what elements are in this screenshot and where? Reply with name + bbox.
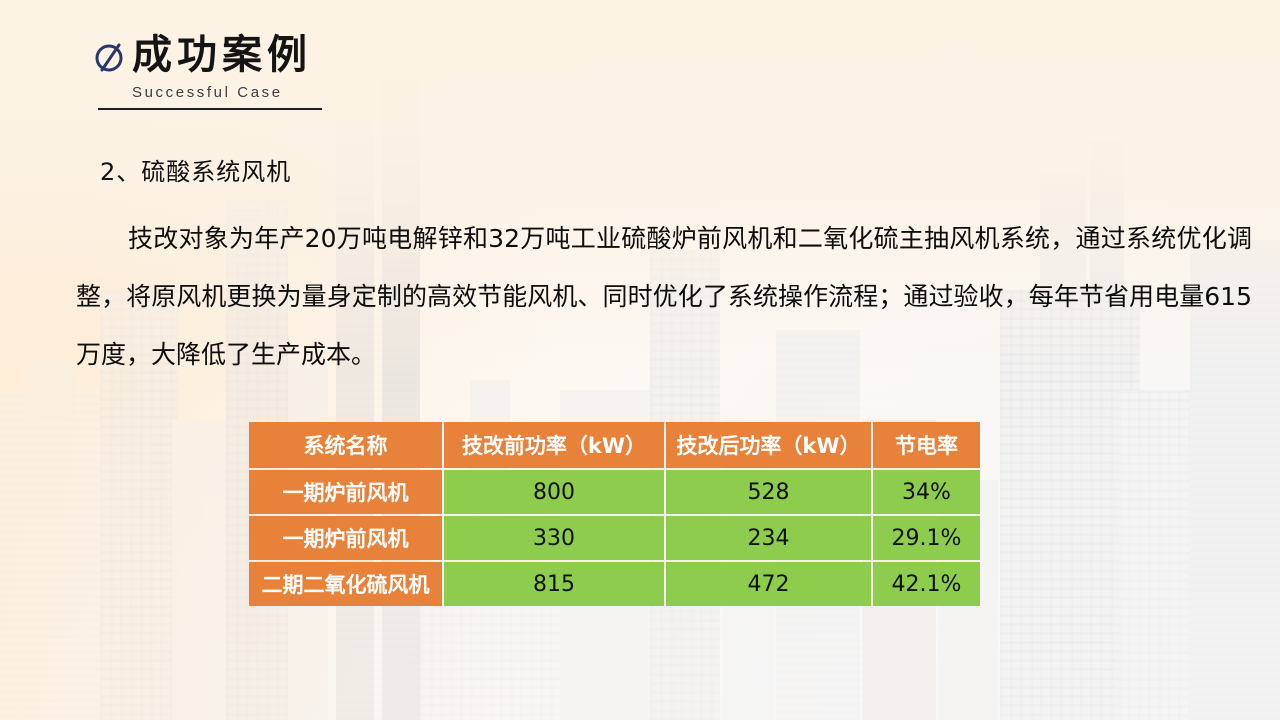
column-header-power-before: 技改前功率（kW） [444, 422, 664, 468]
cell-power-before: 330 [444, 516, 664, 560]
cell-power-before: 800 [444, 470, 664, 514]
cell-saving-rate: 29.1% [873, 516, 980, 560]
cell-power-after: 234 [666, 516, 871, 560]
cell-system-name: 一期炉前风机 [249, 470, 442, 514]
cell-saving-rate: 42.1% [873, 562, 980, 606]
results-table-wrapper: 系统名称 技改前功率（kW） 技改后功率（kW） 节电率 一期炉前风机 800 … [247, 420, 974, 608]
subtitle-block: Successful Case [92, 84, 512, 110]
cell-saving-rate: 34% [873, 470, 980, 514]
table-head: 系统名称 技改前功率（kW） 技改后功率（kW） 节电率 [249, 422, 980, 468]
title-underline [98, 108, 322, 110]
table-row: 一期炉前风机 330 234 29.1% [249, 516, 980, 560]
page-title: 成功案例 [132, 34, 312, 76]
column-header-saving-rate: 节电率 [873, 422, 980, 468]
slide-canvas: 成功案例 Successful Case 2、硫酸系统风机 技改对象为年产20万… [0, 0, 1280, 720]
page-subtitle: Successful Case [132, 84, 512, 101]
column-header-power-after: 技改后功率（kW） [666, 422, 871, 468]
section-heading: 2、硫酸系统风机 [100, 152, 291, 187]
body-paragraph: 技改对象为年产20万吨电解锌和32万吨工业硫酸炉前风机和二氧化硫主抽风机系统，通… [76, 210, 1252, 384]
results-table: 系统名称 技改前功率（kW） 技改后功率（kW） 节电率 一期炉前风机 800 … [247, 420, 982, 608]
slashed-circle-icon [92, 40, 126, 74]
cell-power-before: 815 [444, 562, 664, 606]
title-row: 成功案例 [92, 34, 512, 76]
cell-power-after: 528 [666, 470, 871, 514]
column-header-system-name: 系统名称 [249, 422, 442, 468]
table-header-row: 系统名称 技改前功率（kW） 技改后功率（kW） 节电率 [249, 422, 980, 468]
table-body: 一期炉前风机 800 528 34% 一期炉前风机 330 234 29.1% … [249, 470, 980, 606]
table-row: 一期炉前风机 800 528 34% [249, 470, 980, 514]
cell-system-name: 一期炉前风机 [249, 516, 442, 560]
table-row: 二期二氧化硫风机 815 472 42.1% [249, 562, 980, 606]
slide-header: 成功案例 Successful Case [92, 34, 512, 110]
cell-power-after: 472 [666, 562, 871, 606]
cell-system-name: 二期二氧化硫风机 [249, 562, 442, 606]
